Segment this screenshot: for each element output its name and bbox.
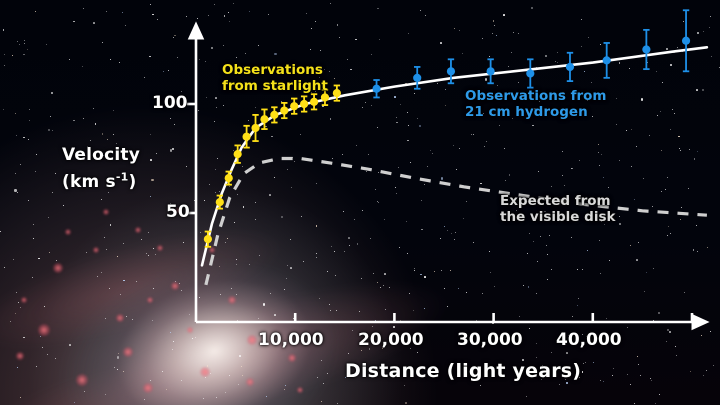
datapoint-hydrogen-7 (642, 45, 650, 53)
y-axis-label-line1: Velocity (62, 145, 140, 165)
datapoint-starlight-6 (260, 115, 268, 123)
annotation-visible-disk-line1: Expected from (500, 193, 611, 209)
datapoint-hydrogen-8 (682, 37, 690, 45)
datapoint-hydrogen-6 (603, 56, 611, 64)
datapoint-starlight-8 (280, 106, 288, 114)
annotation-starlight-line1: Observations (222, 62, 323, 78)
x-axis-label: Distance (light years) (345, 360, 581, 382)
datapoint-starlight-10 (300, 100, 308, 108)
datapoint-starlight-12 (321, 93, 329, 101)
datapoint-hydrogen-2 (447, 67, 455, 75)
rotation-curve-figure: Velocity (km s-1) Distance (light years)… (0, 0, 720, 405)
annotation-hydrogen-line2: 21 cm hydrogen (465, 104, 588, 120)
datapoint-starlight-1 (216, 198, 224, 206)
datapoint-starlight-2 (225, 174, 233, 182)
y-tick-label-100: 100 (152, 93, 188, 113)
annotation-hydrogen: Observations from 21 cm hydrogen (465, 88, 606, 120)
datapoint-starlight-13 (333, 89, 341, 97)
datapoint-starlight-9 (290, 102, 298, 110)
annotation-hydrogen-line1: Observations from (465, 88, 606, 104)
datapoint-starlight-11 (310, 98, 318, 106)
x-tick-label-40000: 40,000 (556, 330, 622, 350)
datapoint-starlight-7 (270, 111, 278, 119)
x-tick-label-10000: 10,000 (258, 330, 324, 350)
y-axis-label-units: (km s-1) (62, 172, 136, 192)
x-tick-label-30000: 30,000 (457, 330, 523, 350)
annotation-visible-disk-line2: the visible disk (500, 209, 615, 225)
x-tick-label-20000: 20,000 (358, 330, 424, 350)
expected-visible-disk-curve (206, 159, 707, 285)
annotation-starlight-line2: from starlight (222, 78, 328, 94)
annotation-starlight: Observations from starlight (222, 62, 328, 94)
datapoint-starlight-4 (242, 133, 250, 141)
annotation-visible-disk: Expected from the visible disk (500, 193, 615, 225)
datapoint-hydrogen-4 (526, 69, 534, 77)
y-tick-label-50: 50 (166, 202, 190, 222)
datapoint-hydrogen-1 (413, 74, 421, 82)
y-axis-label: Velocity (km s-1) (62, 144, 140, 193)
datapoint-hydrogen-3 (487, 67, 495, 75)
datapoint-starlight-5 (251, 124, 259, 132)
datapoint-hydrogen-0 (372, 85, 380, 93)
datapoint-hydrogen-5 (566, 63, 574, 71)
datapoint-starlight-0 (204, 235, 212, 243)
datapoint-starlight-3 (234, 150, 242, 158)
